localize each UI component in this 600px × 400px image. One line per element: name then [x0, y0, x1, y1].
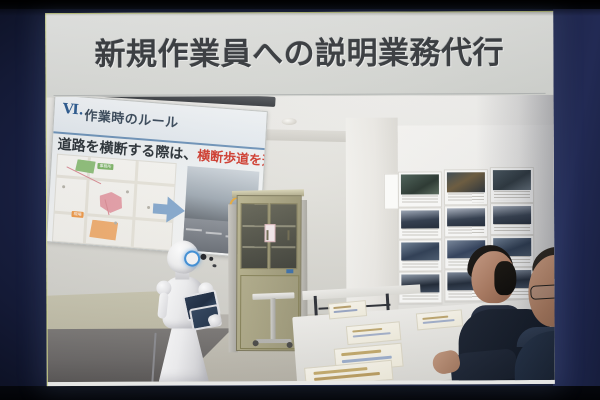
slide-photograph: Ⅵ. 作業時のルール 道路を横断する際は、横断歩道を通る等 事務所 現場 [46, 95, 555, 382]
map-area-route [99, 191, 123, 214]
lectern-caster [287, 342, 293, 348]
room-bottom-shadow [0, 386, 600, 400]
projection-screenshot: 新規作業員への説明業務代行 Ⅵ. 作業時のルール [0, 0, 600, 400]
room-top-shadow [0, 0, 600, 9]
robot-eye [200, 254, 207, 261]
robot-head [165, 239, 201, 276]
robot-mouth [212, 264, 216, 267]
photo-board-image [401, 210, 439, 228]
glasses-icon [530, 284, 555, 300]
photo-board-caption [448, 226, 484, 234]
projected-slide: 新規作業員への説明業務代行 Ⅵ. 作業時のルール [45, 11, 555, 386]
photo-board-caption [448, 193, 484, 202]
photo-board [398, 239, 442, 271]
cabinet-shelf [242, 246, 266, 248]
map-road [57, 175, 175, 187]
slide-arrow-icon [166, 197, 185, 224]
photo-board [490, 203, 534, 235]
photo-board [490, 167, 534, 203]
map-label-site: 現場 [71, 211, 83, 218]
robot-base [159, 324, 209, 381]
inner-slide-section-title: 作業時のルール [84, 105, 179, 131]
map-poi-dot [126, 190, 129, 193]
inner-slide-section-number: Ⅵ. [62, 101, 84, 119]
document-ink [352, 328, 382, 333]
document-ink [333, 305, 351, 309]
photo-board-caption [494, 224, 530, 232]
inner-slide-map: 事務所 現場 [52, 154, 177, 251]
map-poi-dot [147, 206, 150, 209]
photo-board-image [493, 206, 531, 224]
photo-board-image [401, 174, 439, 195]
attendee-back-hair-side [494, 261, 516, 295]
lectern-post [270, 298, 275, 341]
robot-eye-ring-icon [183, 250, 201, 268]
power-cable [151, 333, 157, 382]
pepper-robot [146, 240, 225, 381]
map-poi-dot [62, 185, 65, 188]
photo-board-image [447, 208, 485, 226]
photo-board-image [401, 242, 439, 260]
cabinet-handle [287, 230, 289, 240]
storage-cabinet [236, 195, 302, 351]
page-title: 新規作業員への説明業務代行 [45, 27, 553, 74]
photo-board [398, 207, 442, 239]
photo-board-caption [402, 229, 438, 237]
photo-board-image [447, 172, 485, 193]
room-right-wall [553, 0, 600, 400]
photo-board [398, 171, 442, 207]
cabinet-shelf [271, 246, 295, 248]
photo-board [444, 169, 488, 205]
document-ink [423, 319, 455, 324]
cabinet-shelf [243, 225, 267, 227]
photo-board-caption [494, 191, 530, 200]
map-label-office: 事務所 [97, 163, 113, 170]
cabinet-handle [266, 230, 268, 240]
robot-eye [209, 257, 213, 261]
document-ink [334, 309, 358, 313]
map-road [131, 161, 139, 247]
slide-title-band: 新規作業員への説明業務代行 [45, 11, 553, 97]
cabinet-label-sticker [286, 269, 293, 273]
lectern-caster [253, 340, 259, 346]
photo-board [444, 205, 488, 237]
photo-board-image [493, 170, 531, 191]
document-ink [353, 332, 391, 337]
photo-board-caption [402, 196, 438, 205]
document-ink [341, 350, 381, 357]
ceiling-light-icon [282, 118, 297, 125]
photo-board-caption [402, 261, 438, 269]
map-poi-dot [114, 221, 117, 224]
